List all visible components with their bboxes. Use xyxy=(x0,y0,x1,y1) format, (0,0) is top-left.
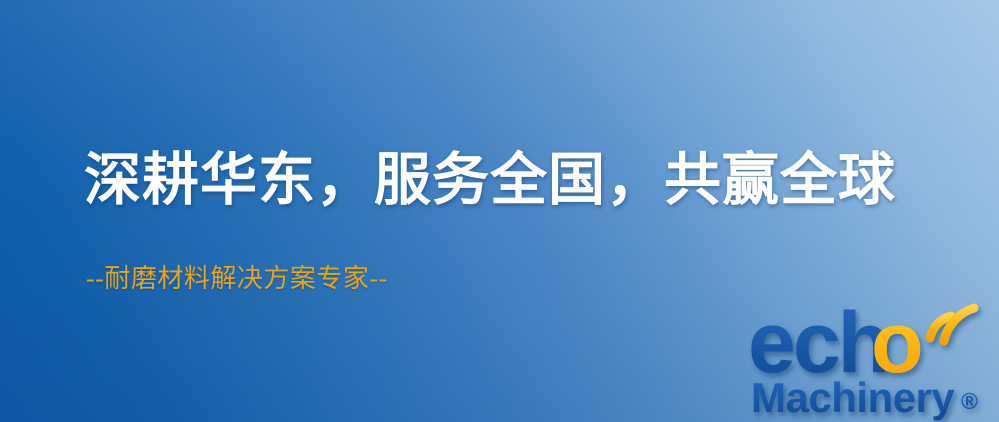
logo-tagline: Machinery xyxy=(751,374,955,421)
banner-headline: 深耕华东，服务全国，共赢全球 xyxy=(84,152,896,209)
hero-banner: 深耕华东，服务全国，共赢全球 --耐磨材料解决方案专家-- xyxy=(0,0,999,422)
banner-subtitle: --耐磨材料解决方案专家-- xyxy=(86,266,388,292)
echo-signal-waves-icon xyxy=(930,308,974,341)
echo-machinery-logo[interactable]: ech o Machinery ® xyxy=(748,296,999,422)
registered-trademark-icon: ® xyxy=(961,388,978,414)
